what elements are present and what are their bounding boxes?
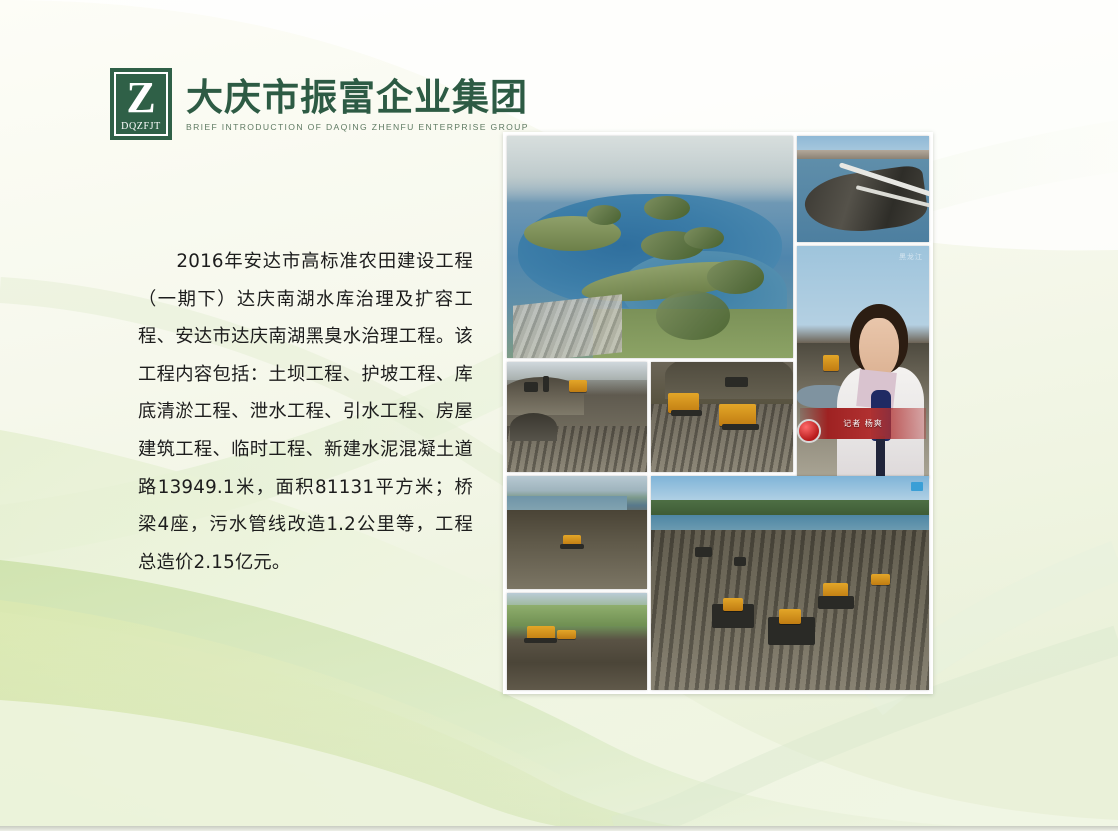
company-name-cn: 大庆市振富企业集团 [186,78,529,118]
photo-coastal-aerial [797,136,929,242]
logo-letter: Z [126,76,155,120]
photo-reporter: 黑龙江 记者 杨爽 [797,246,929,478]
company-name-en: BRIEF INTRODUCTION OF DAQING ZHENFU ENTE… [186,122,529,132]
body-paragraph: 2016年安达市高标准农田建设工程（一期下）达庆南湖水库治理及扩容工程、安达市达… [138,243,473,581]
video-source-badge-icon [911,482,923,491]
photo-river-dredge [507,476,647,589]
photo-collage: 黑龙江 记者 杨爽 [503,132,933,694]
photo-masterplan [507,136,793,358]
broadcaster-watermark: 黑龙江 [899,252,923,262]
paragraph-text: 2016年安达市高标准农田建设工程（一期下）达庆南湖水库治理及扩容工程、安达市达… [138,251,473,573]
brand-header: Z DQZFJT 大庆市振富企业集团 BRIEF INTRODUCTION OF… [110,68,529,140]
photo-bulldozer-slope [651,362,793,472]
photo-field-grading [507,593,647,690]
logo-abbreviation: DQZFJT [121,121,161,132]
reporter-name-label: 记者 杨爽 [843,418,883,429]
bottom-edge-strip [0,826,1118,831]
slide-canvas: Z DQZFJT 大庆市振富企业集团 BRIEF INTRODUCTION OF… [0,0,1118,831]
photo-excavator-pile [507,362,647,472]
company-logo-icon: Z DQZFJT [110,68,172,140]
photo-wide-site [651,476,929,690]
